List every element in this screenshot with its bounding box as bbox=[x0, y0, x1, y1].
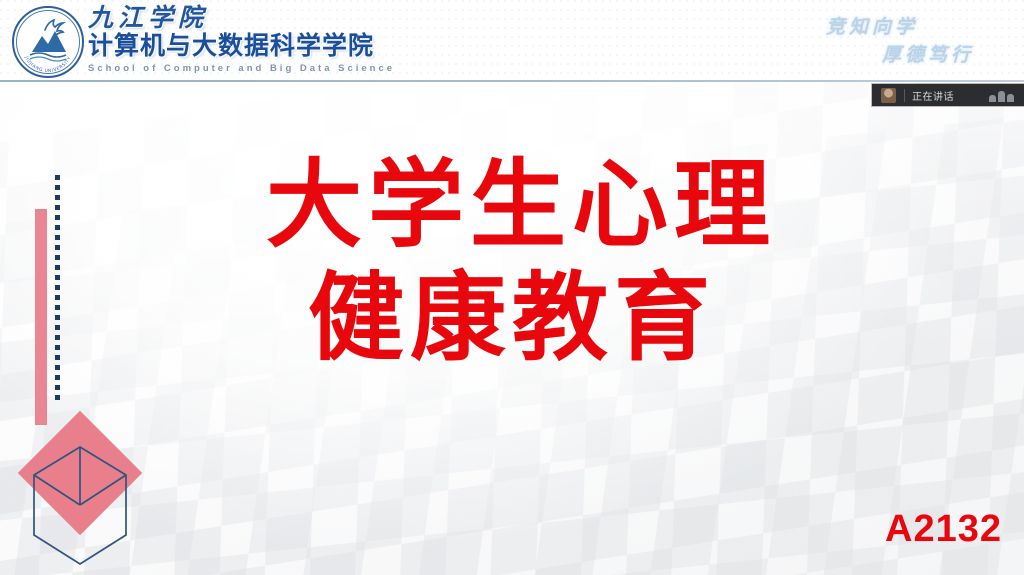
crest-emblem-icon: JIUJIANG UNIVERSITY bbox=[12, 6, 84, 78]
slide-header: JIUJIANG UNIVERSITY 九江学院 计算机与大数据科学学院 Sch… bbox=[0, 0, 1024, 82]
school-name-english: School of Computer and Big Data Science bbox=[88, 63, 558, 74]
university-name: 九江学院 bbox=[88, 4, 558, 31]
pink-accent-bar bbox=[35, 209, 47, 425]
svg-text:JIUJIANG UNIVERSITY: JIUJIANG UNIVERSITY bbox=[23, 55, 73, 75]
room-code-label: A2132 bbox=[885, 508, 1002, 551]
university-motto: 竞知向学 厚德笃行 bbox=[778, 6, 1008, 72]
background-fade-overlay bbox=[0, 0, 1024, 575]
school-name: 计算机与大数据科学学院 bbox=[88, 32, 558, 60]
video-bar-divider bbox=[904, 89, 905, 102]
audio-waveform-icon bbox=[989, 88, 1014, 102]
motto-line-2: 厚德笃行 bbox=[882, 40, 974, 67]
motto-line-1: 竞知向学 bbox=[826, 12, 918, 39]
speaking-status-label: 正在讲话 bbox=[912, 88, 954, 103]
dotted-accent-line bbox=[55, 175, 60, 400]
university-logo: JIUJIANG UNIVERSITY bbox=[12, 6, 84, 78]
cube-outline-shape bbox=[30, 443, 130, 569]
header-divider bbox=[0, 80, 1024, 82]
presentation-slide: JIUJIANG UNIVERSITY 九江学院 计算机与大数据科学学院 Sch… bbox=[0, 0, 1024, 575]
video-speaking-indicator[interactable]: 正在讲话 bbox=[872, 84, 1024, 106]
brand-text-block: 九江学院 计算机与大数据科学学院 School of Computer and … bbox=[88, 4, 558, 74]
participant-avatar-icon bbox=[881, 88, 896, 103]
